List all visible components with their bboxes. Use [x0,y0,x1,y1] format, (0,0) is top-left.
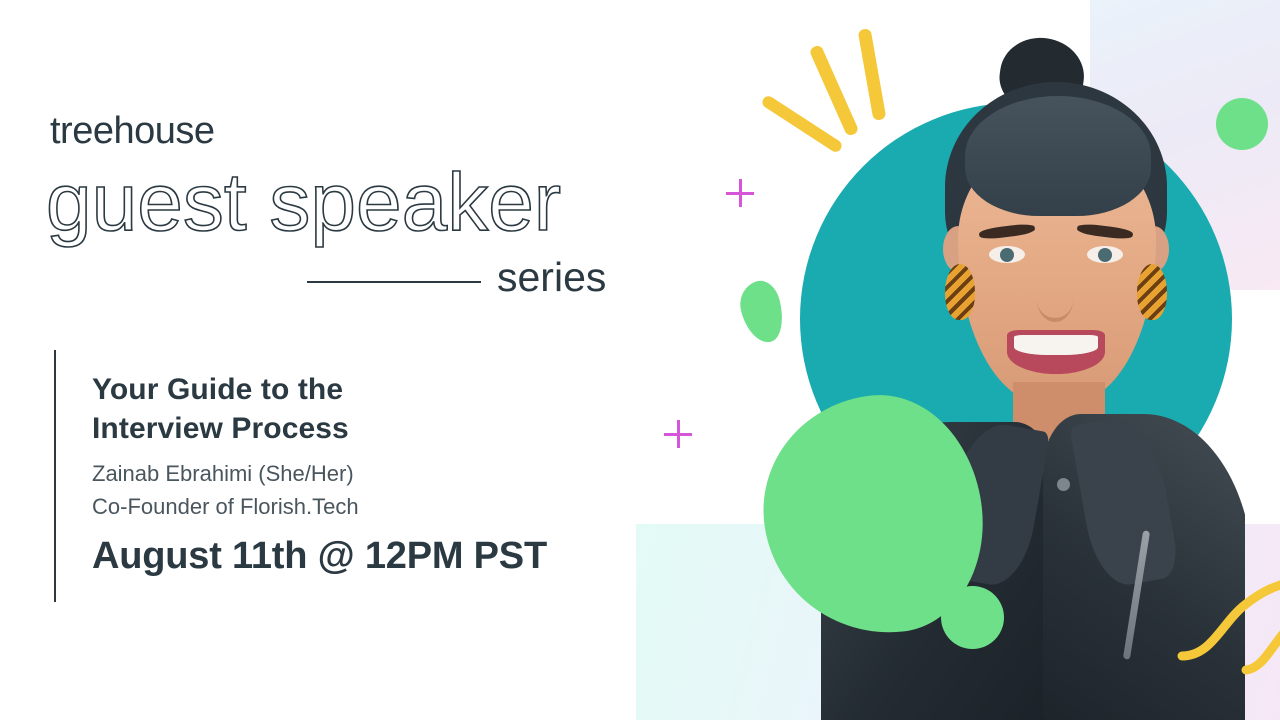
eye-left [989,246,1025,263]
event-datetime: August 11th @ 12PM PST [92,535,547,578]
headline-outline: guest speaker [46,162,561,244]
yellow-squiggle-1 [1182,582,1280,656]
hair-sheen [965,96,1151,216]
series-label: series [497,254,606,301]
magenta-plus-1 [726,179,754,207]
pupil-left [1000,248,1014,262]
talk-title-line-2: Interview Process [92,409,349,448]
earring-right [1137,264,1167,320]
brand-wordmark: treehouse [50,110,215,153]
series-rule [307,281,481,283]
teeth [1014,335,1098,355]
smiling-mouth [1007,330,1105,374]
yellow-squiggle-2 [1246,626,1280,670]
speaker-role: Co-Founder of Florish.Tech [92,494,359,520]
details-vertical-rule [54,350,56,602]
magenta-plus-2 [664,420,692,448]
earring-left [945,264,975,320]
promo-slide: treehouse guest speaker series Your Guid… [0,0,1280,720]
nose [1037,278,1073,322]
speaker-name: Zainab Ebrahimi (She/Her) [92,461,354,487]
jacket-stud [1057,478,1070,491]
green-dot-bottom [941,586,1004,649]
talk-title: Your Guide to the Interview Process [92,370,349,448]
green-bean-small [735,277,789,347]
yellow-squiggle-group [1160,560,1280,680]
pupil-right [1098,248,1112,262]
talk-title-line-1: Your Guide to the [92,370,349,409]
eye-right [1087,246,1123,263]
